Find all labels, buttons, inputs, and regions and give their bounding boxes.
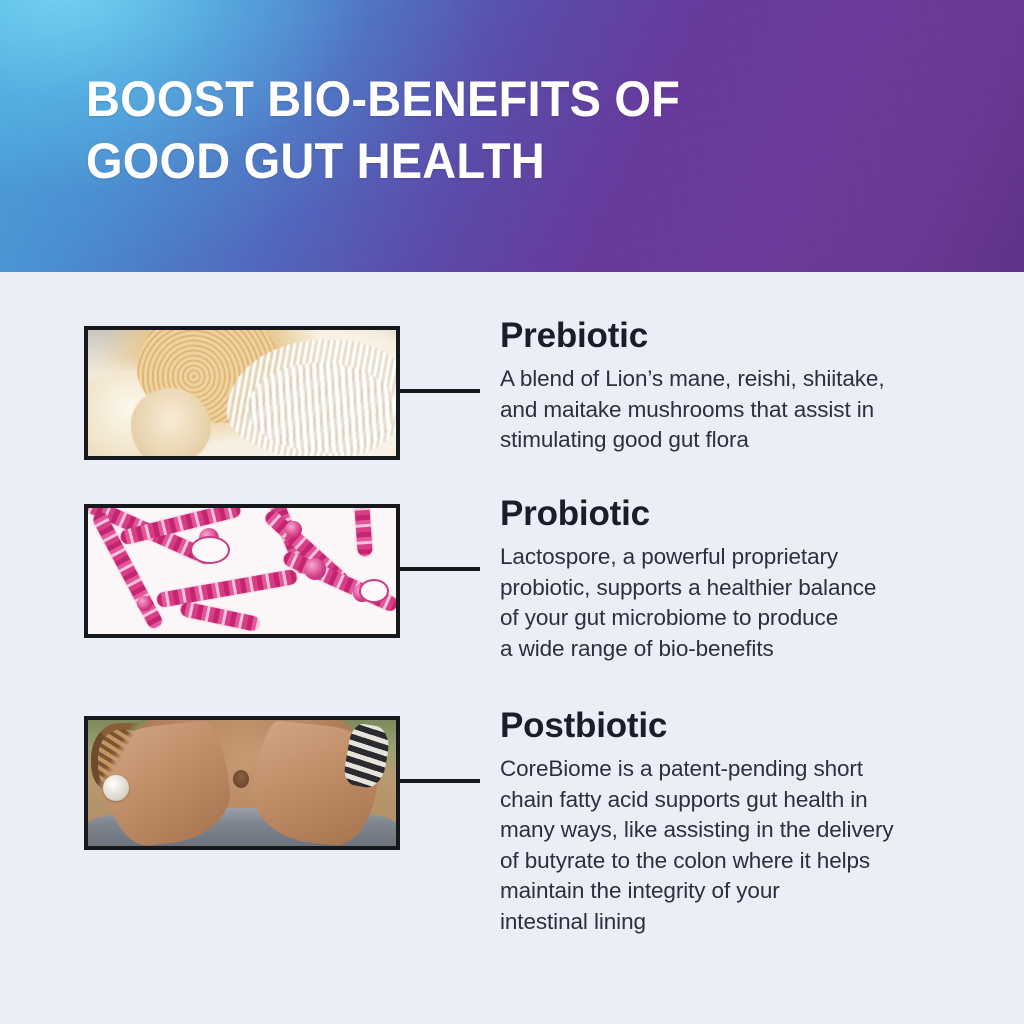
hands-heart-abdomen-icon xyxy=(88,720,396,846)
page-title: BOOST BIO-BENEFITS OF GOOD GUT HEALTH xyxy=(86,68,838,192)
prebiotic-image-frame xyxy=(84,326,400,460)
cell-chain xyxy=(180,601,261,632)
cell-vacuole xyxy=(359,579,389,603)
postbiotic-text-block: Postbiotic CoreBiome is a patent-pending… xyxy=(500,704,978,937)
probiotic-text-block: Probiotic Lactospore, a powerful proprie… xyxy=(500,492,978,664)
postbiotic-image-frame xyxy=(84,716,400,850)
prebiotic-heading: Prebiotic xyxy=(500,314,978,358)
stained-cell xyxy=(285,521,302,538)
cell-vacuole xyxy=(190,536,230,564)
stained-cell xyxy=(304,558,326,580)
connector-line-probiotic xyxy=(400,567,480,571)
probiotic-description: Lactospore, a powerful proprietary probi… xyxy=(500,542,978,664)
cell-chain xyxy=(351,504,372,557)
benefits-list: Prebiotic A blend of Lion’s mane, reishi… xyxy=(0,272,1024,1024)
probiotic-image-frame xyxy=(84,504,400,638)
postbiotic-heading: Postbiotic xyxy=(500,704,978,748)
navel xyxy=(233,770,249,788)
prebiotic-description: A blend of Lion’s mane, reishi, shiitake… xyxy=(500,364,978,456)
prebiotic-text-block: Prebiotic A blend of Lion’s mane, reishi… xyxy=(500,314,978,456)
probiotic-heading: Probiotic xyxy=(500,492,978,536)
header-banner: BOOST BIO-BENEFITS OF GOOD GUT HEALTH xyxy=(0,0,1024,272)
lions-mane-mushroom-icon xyxy=(88,330,396,456)
cell-chain xyxy=(156,569,298,608)
postbiotic-description: CoreBiome is a patent-pending short chai… xyxy=(500,754,978,937)
connector-line-prebiotic xyxy=(400,389,480,393)
probiotic-micrograph-icon xyxy=(88,508,396,634)
connector-line-postbiotic xyxy=(400,779,480,783)
